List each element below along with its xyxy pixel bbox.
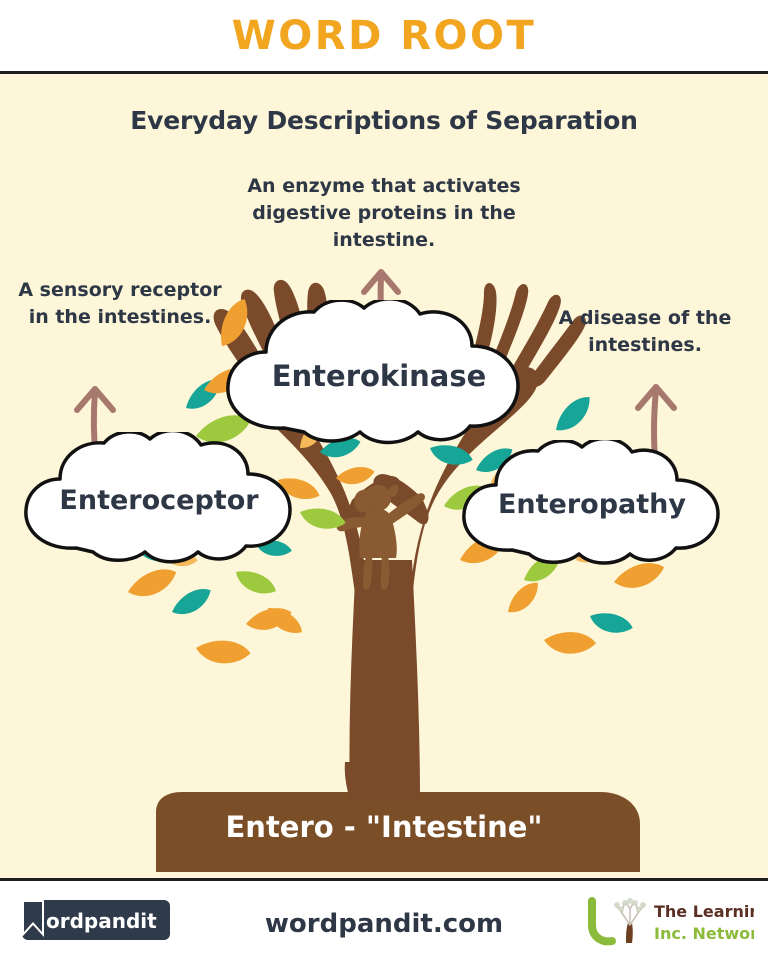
infographic-poster: WORD ROOT Everyday Descriptions of Separ… (0, 0, 768, 960)
page-title: WORD ROOT (232, 13, 537, 59)
cloud-enteropathy: Enteropathy (452, 440, 732, 573)
tree-icon (614, 898, 646, 943)
cloud-label-enteroceptor: Enteroceptor (59, 485, 258, 516)
subtitle: Everyday Descriptions of Separation (0, 106, 768, 135)
header-bar: WORD ROOT (0, 0, 768, 74)
partner-line2: Inc. Network (654, 924, 754, 943)
footer-bar: ordpandit wordpandit.com The Lea (0, 878, 768, 960)
partner-line1: The Learning (654, 902, 754, 921)
root-word-banner: Entero - "Intestine" (0, 810, 768, 844)
cloud-enteroceptor: Enteroceptor (14, 432, 304, 572)
the-learning-inc-network-logo[interactable]: The Learning Inc. Network (582, 895, 754, 947)
description-enteropathy: A disease of the intestines. (537, 305, 753, 359)
description-enteroceptor: A sensory receptor in the intestines. (12, 277, 228, 331)
description-enterokinase: An enzyme that activates digestive prote… (214, 173, 554, 254)
cloud-label-enteropathy: Enteropathy (498, 489, 686, 520)
cloud-label-enterokinase: Enterokinase (272, 359, 487, 393)
